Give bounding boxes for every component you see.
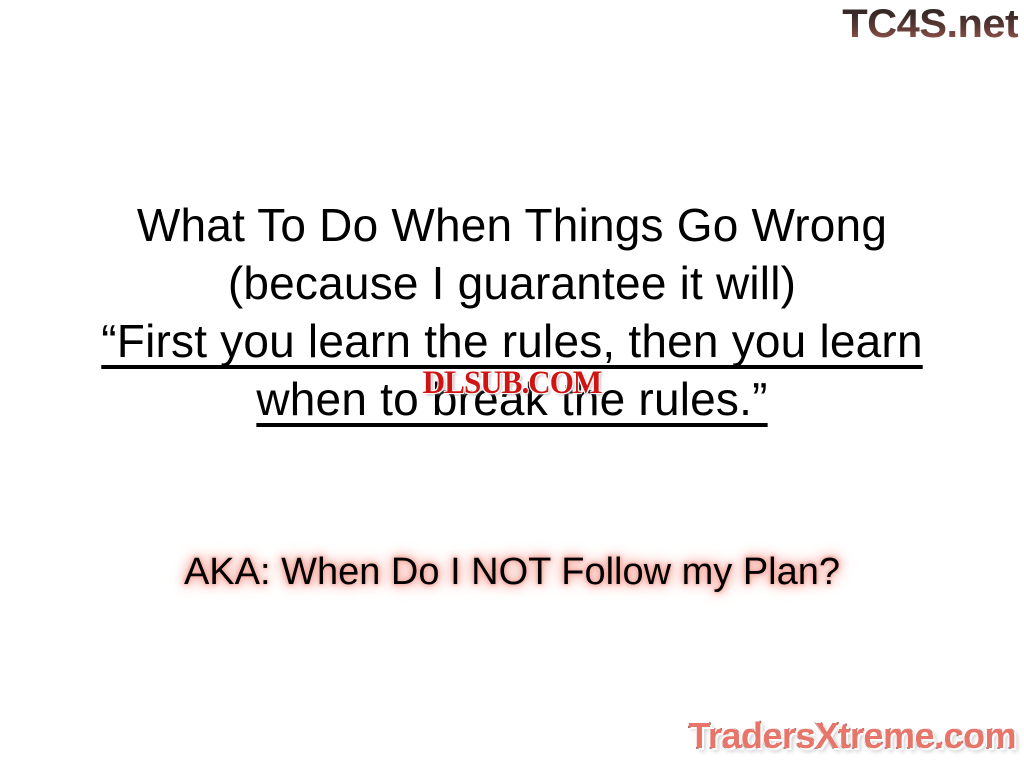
aka-subheading: AKA: When Do I NOT Follow my Plan? bbox=[0, 548, 1024, 596]
site-logo-tradersxtreme: TradersXtreme.com bbox=[688, 716, 1016, 756]
presentation-slide: TC4S.net What To Do When Things Go Wrong… bbox=[0, 0, 1024, 768]
headline-line-3-quote-part1: “First you learn the rules, then you lea… bbox=[0, 312, 1024, 370]
headline-block: What To Do When Things Go Wrong (because… bbox=[0, 196, 1024, 428]
brand-logo-tc4s: TC4S.net bbox=[842, 2, 1018, 46]
headline-line-1: What To Do When Things Go Wrong bbox=[0, 196, 1024, 254]
headline-line-2: (because I guarantee it will) bbox=[0, 254, 1024, 312]
headline-line-4-quote-part2: when to break the rules.” bbox=[0, 370, 1024, 428]
